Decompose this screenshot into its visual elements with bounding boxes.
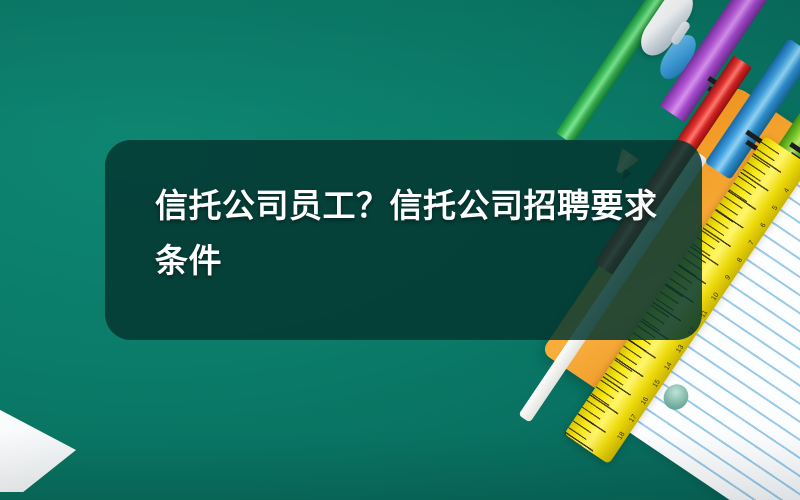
banner-image: 456789101112131415161718 信托公司员工？信托公司招聘要求… [0, 0, 800, 500]
ruler-number: 9 [724, 274, 732, 281]
ruler-number: 14 [664, 361, 674, 371]
ruler-number: 16 [640, 396, 650, 406]
ruler-number: 5 [771, 205, 779, 212]
ruler-number: 17 [628, 414, 638, 424]
ruler-number: 7 [748, 239, 756, 246]
ruler-number: 10 [711, 292, 721, 302]
ruler-number: 6 [760, 222, 768, 229]
ruler-number: 8 [736, 257, 744, 264]
ruler-number: 18 [617, 431, 627, 441]
page-title: 信托公司员工？信托公司招聘要求条件 [155, 178, 675, 288]
ruler-number: 15 [652, 379, 662, 389]
ruler-number: 4 [783, 187, 791, 194]
ruler-number: 13 [675, 344, 685, 354]
paper-corner-sliver-icon [0, 392, 76, 492]
